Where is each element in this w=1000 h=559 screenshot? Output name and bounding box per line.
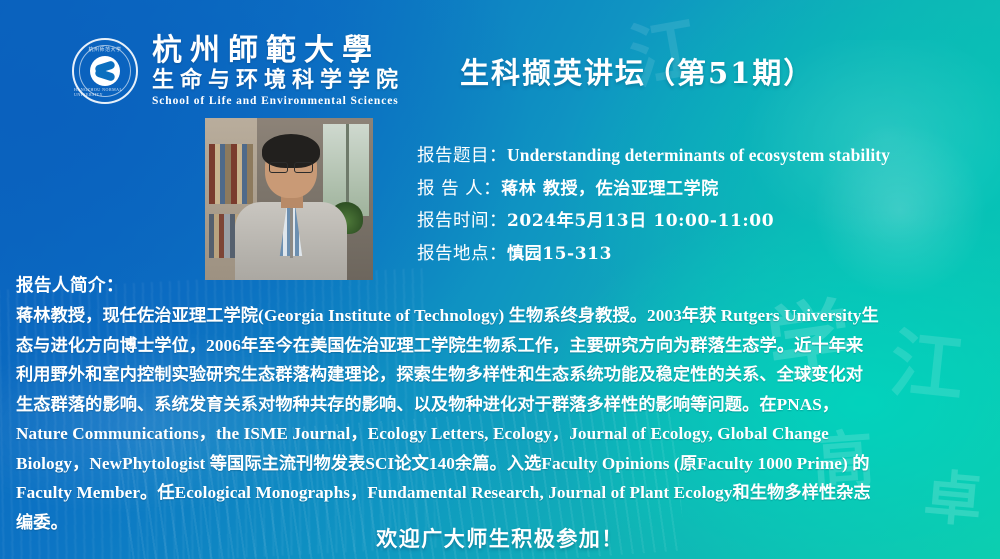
photo-person-glasses [269,162,313,171]
seal-emblem-icon [90,56,120,86]
page-title: 生科撷英讲坛（第51期） [460,50,814,92]
speaker-photo [205,118,373,280]
university-seal-icon: 杭州师范大学 HANGZHOU NORMAL UNIVERSITY [72,38,138,104]
info-label-title: 报告题目： [417,142,507,167]
talk-info-block: 报告题目： Understanding determinants of ecos… [417,142,995,271]
info-value-location: 慎园15-313 [507,239,612,264]
info-value-time: 2024年5月13日 10:00-11:00 [507,206,774,231]
info-label-location: 报告地点： [417,240,507,265]
bio-line: 态与进化方向博士学位，2006年至今在美国佐治亚理工学院生物系工作，主要研究方向… [16,331,984,361]
info-label-time: 报告时间： [417,207,507,232]
university-name: 杭州師範大學 [152,36,404,67]
bio-line: Nature Communications，the ISME Journal，E… [16,419,984,449]
seal-top-text: 杭州师范大学 [88,46,121,53]
seal-bottom-text: HANGZHOU NORMAL UNIVERSITY [74,87,136,97]
bio-heading: 报告人简介： [16,272,984,297]
info-value-title: Understanding determinants of ecosystem … [507,145,890,166]
info-row-title: 报告题目： Understanding determinants of ecos… [417,142,995,167]
college-name-english: School of Life and Environmental Science… [152,95,404,107]
bio-line: 生态群落的影响、系统发育关系对物种共存的影响、以及物种进化对于群落多样性的影响等… [16,390,984,420]
university-wordmark: 杭州師範大學 生命与环境科学学院 School of Life and Envi… [152,36,404,107]
bio-line: Biology，NewPhytologist 等国际主流刊物发表SCI论文140… [16,449,984,479]
info-row-speaker: 报 告 人： 蒋林 教授，佐治亚理工学院 [417,174,995,200]
info-row-time: 报告时间： 2024年5月13日 10:00-11:00 [417,206,995,232]
bio-line: Faculty Member。任Ecological Monographs，Fu… [16,478,984,508]
college-name: 生命与环境科学学院 [152,68,404,93]
info-value-speaker: 蒋林 教授，佐治亚理工学院 [501,174,719,199]
welcome-message: 欢迎广大师生积极参加！ [0,523,1000,553]
info-label-speaker: 报 告 人： [417,175,501,200]
photo-person-zipper [290,208,293,258]
info-row-location: 报告地点： 慎园15-313 [417,239,995,265]
bio-line: 蒋林教授，现任佐治亚理工学院(Georgia Institute of Tech… [16,301,984,331]
bio-line: 利用野外和室内控制实验研究生态群落构建理论，探索生物多样性和生态系统功能及稳定性… [16,360,984,390]
speaker-bio-block: 报告人简介： 蒋林教授，现任佐治亚理工学院(Georgia Institute … [16,272,984,537]
poster-canvas: 江 学 江 高 卓 杭州师范大学 HANGZHOU NORMAL UNIVERS… [0,0,1000,559]
university-logo: 杭州师范大学 HANGZHOU NORMAL UNIVERSITY 杭州師範大學… [72,36,404,107]
photo-books [209,144,253,204]
